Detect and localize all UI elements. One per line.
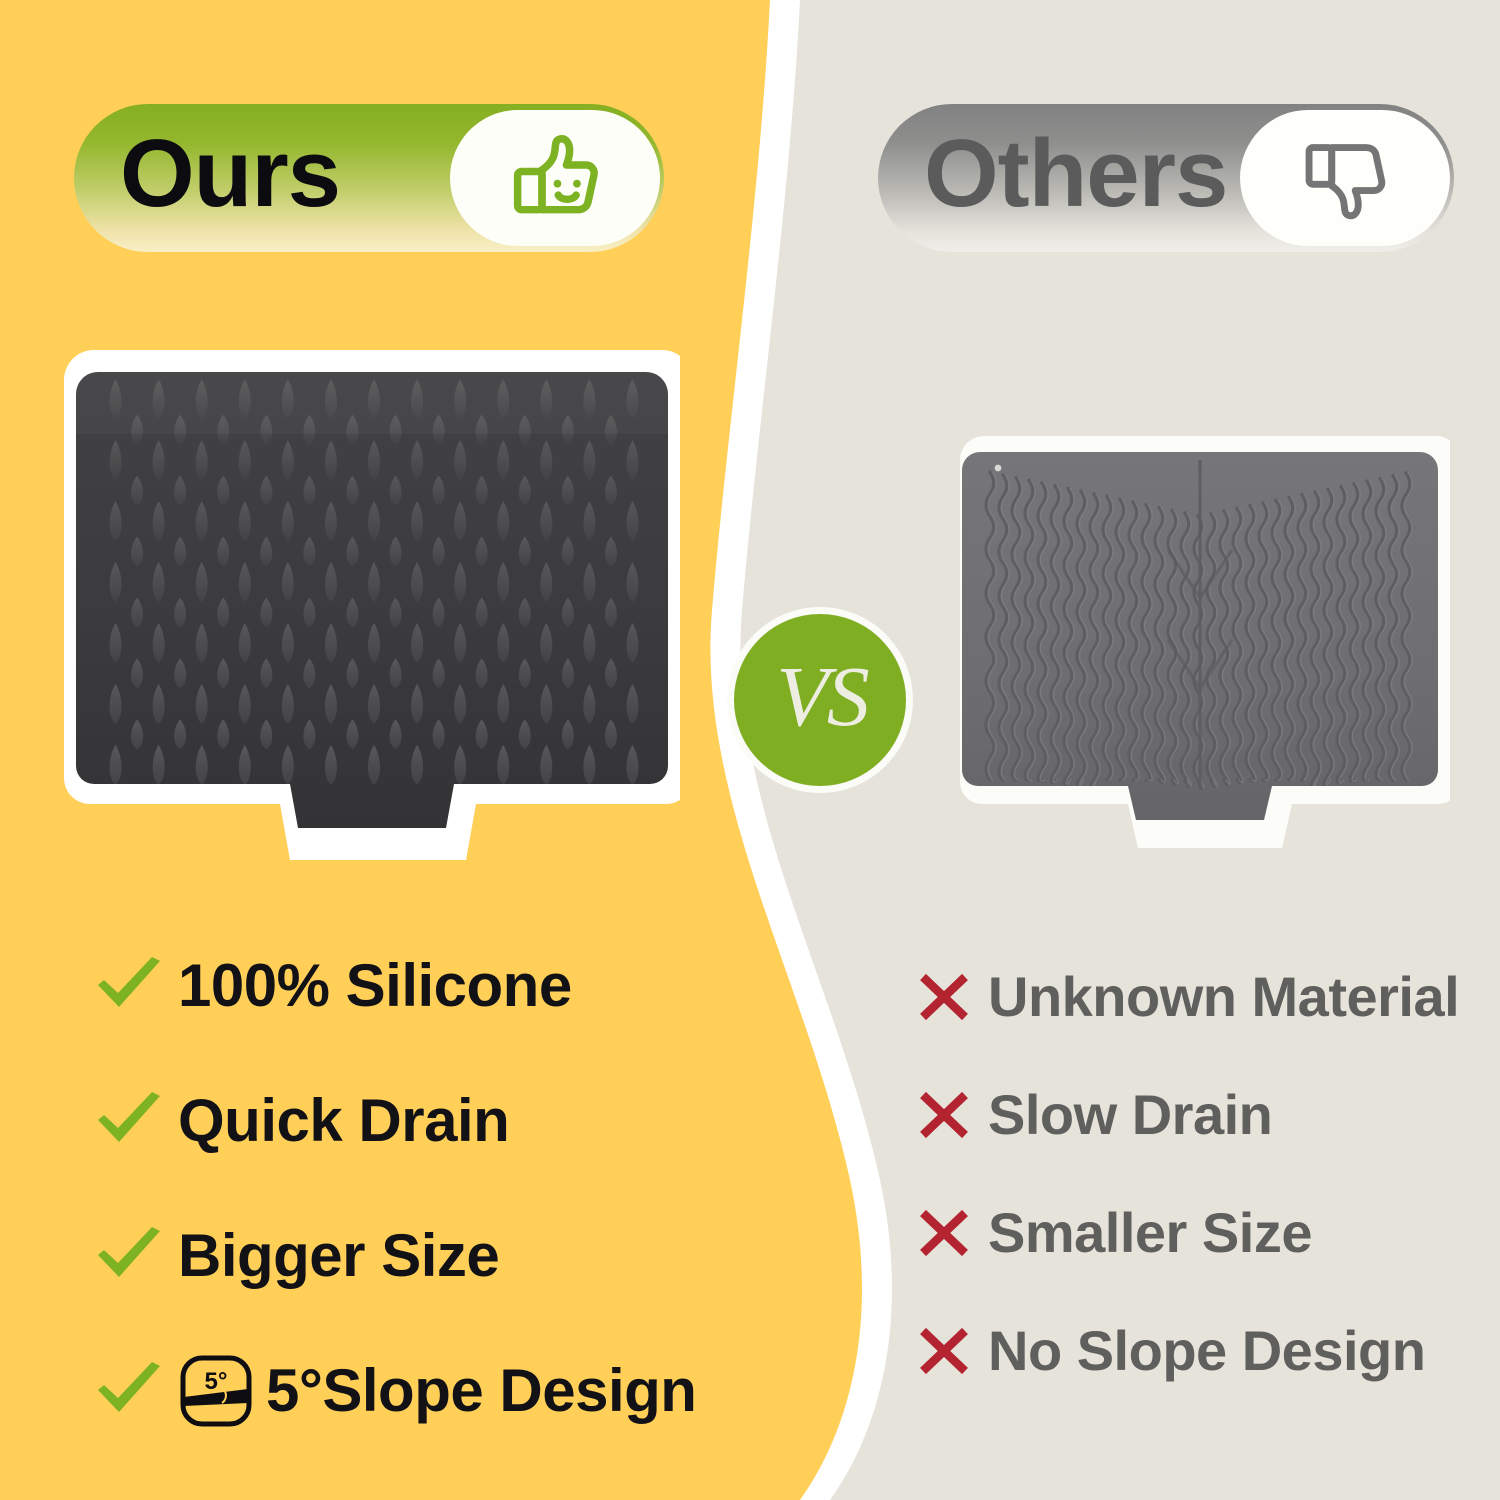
- others-feature-label: Smaller Size: [988, 1205, 1312, 1261]
- check-icon: [86, 1225, 172, 1287]
- cross-icon: [908, 1087, 980, 1143]
- thumbs-down-icon: [1295, 128, 1395, 228]
- others-mat-graphic: [950, 430, 1450, 860]
- others-mat-corner-dot: [995, 465, 1002, 472]
- others-feature-row: No Slope Design: [908, 1292, 1478, 1410]
- others-feature-label: Unknown Material: [988, 969, 1459, 1025]
- cross-icon: [908, 1205, 980, 1261]
- thumbs-up-pill: [450, 110, 660, 246]
- ours-feature-row: Quick Drain: [86, 1053, 766, 1188]
- comparison-infographic: Ours Others: [0, 0, 1500, 1500]
- ours-badge: Ours: [74, 104, 664, 252]
- others-product-image: [950, 430, 1450, 860]
- others-feature-row: Unknown Material: [908, 938, 1478, 1056]
- check-icon: [86, 1090, 172, 1152]
- ours-feature-label: 5°Slope Design: [266, 1361, 696, 1421]
- ours-mat-graphic: [60, 340, 680, 870]
- slope-angle-icon: 5°: [178, 1353, 254, 1429]
- ours-feature-label: 100% Silicone: [178, 956, 572, 1016]
- thumbs-down-pill: [1240, 110, 1450, 246]
- others-feature-row: Slow Drain: [908, 1056, 1478, 1174]
- vs-badge: VS: [727, 607, 913, 793]
- check-icon: [86, 1360, 172, 1422]
- ours-feature-list: 100% Silicone Quick Drain Bigger Size: [86, 918, 766, 1458]
- ours-mat-highlight: [72, 372, 668, 434]
- others-feature-row: Smaller Size: [908, 1174, 1478, 1292]
- others-feature-list: Unknown Material Slow Drain: [908, 938, 1478, 1410]
- ours-feature-row: 100% Silicone: [86, 918, 766, 1053]
- others-badge: Others: [878, 104, 1454, 252]
- ours-product-image: [60, 340, 680, 870]
- ours-feature-label: Quick Drain: [178, 1091, 509, 1151]
- vs-label: VS: [776, 646, 868, 746]
- ours-feature-label: Bigger Size: [178, 1226, 499, 1286]
- others-feature-label: No Slope Design: [988, 1323, 1425, 1379]
- cross-icon: [908, 1323, 980, 1379]
- ours-badge-label: Ours: [120, 126, 340, 222]
- others-feature-label: Slow Drain: [988, 1087, 1272, 1143]
- ours-feature-row: Bigger Size: [86, 1188, 766, 1323]
- cross-icon: [908, 969, 980, 1025]
- thumbs-up-icon: [503, 126, 607, 230]
- check-icon: [86, 955, 172, 1017]
- others-badge-label: Others: [924, 126, 1227, 222]
- ours-feature-row: 5° 5°Slope Design: [86, 1323, 766, 1458]
